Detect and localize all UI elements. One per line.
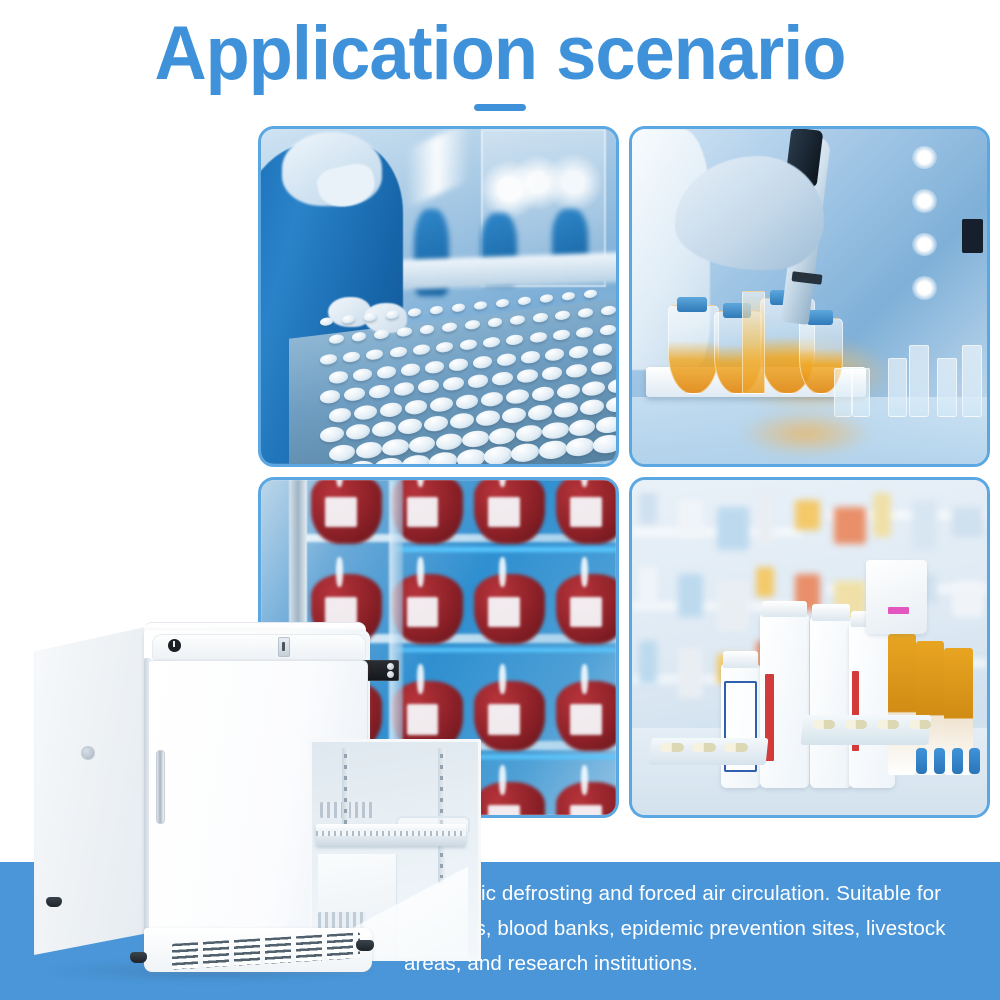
- fridge-light-strip: [396, 648, 616, 653]
- blood-bag-label: [488, 805, 520, 815]
- tablet: [562, 291, 575, 300]
- tablet: [557, 382, 580, 398]
- tablet: [430, 396, 453, 412]
- tablet: [443, 376, 464, 391]
- tablet: [517, 368, 538, 383]
- prescription-vial: [888, 634, 916, 775]
- fridge-light-strip: [396, 547, 616, 552]
- tablet: [429, 451, 457, 464]
- bottle-cap: [762, 601, 807, 618]
- flask-cap: [807, 310, 833, 325]
- scenario-tile-pharmaceutical-production[interactable]: Pharmaceutical production line with work…: [258, 126, 619, 467]
- tablet: [600, 323, 616, 335]
- blue-capsule: [916, 748, 927, 774]
- tablet: [364, 311, 377, 320]
- tablet: [436, 340, 453, 352]
- tablet: [462, 429, 488, 448]
- tablet: [413, 343, 430, 355]
- tablet: [554, 401, 578, 419]
- tablet: [465, 319, 480, 330]
- page-header: Application scenario: [0, 14, 1000, 111]
- tablet: [566, 436, 594, 456]
- amber-reflection: [739, 410, 874, 457]
- lab-lamp: [912, 233, 937, 256]
- graduated-cylinder: [742, 291, 765, 394]
- tablet: [394, 381, 415, 396]
- tablet: [352, 331, 367, 342]
- tablet: [430, 305, 443, 314]
- tablet: [442, 321, 457, 332]
- lab-lamp: [912, 276, 937, 299]
- tablet: [382, 437, 408, 456]
- tablet: [506, 388, 529, 404]
- tablet: [608, 377, 616, 393]
- scenario-tile-laboratory-pipetting[interactable]: Laboratory technician pipetting amber re…: [629, 126, 990, 467]
- capsule: [909, 720, 931, 729]
- tablet: [496, 298, 509, 307]
- tablet: [436, 432, 462, 451]
- tablet: [591, 361, 612, 376]
- title-underline-accent: [474, 104, 526, 111]
- tablet: [540, 293, 553, 302]
- tablet: [402, 453, 430, 464]
- tablet: [593, 433, 616, 453]
- description-text: Automatic defrosting and forced air circ…: [404, 876, 984, 981]
- key-lock-icon[interactable]: [278, 637, 290, 657]
- tablet-cluster: [332, 280, 616, 464]
- tablet: [532, 385, 555, 401]
- tablet: [390, 345, 407, 357]
- shelf-product: [678, 648, 703, 698]
- tablet: [356, 440, 382, 459]
- tablet: [346, 423, 370, 441]
- sample-vial: [937, 358, 957, 417]
- tablet: [601, 305, 616, 316]
- tablet: [528, 404, 552, 422]
- shelf-product: [873, 493, 891, 537]
- flask-cap: [677, 297, 707, 312]
- tablet: [374, 456, 402, 464]
- blue-capsule: [969, 748, 980, 774]
- blood-bag-label: [570, 805, 602, 815]
- blue-capsule: [952, 748, 963, 774]
- shelf-product: [952, 581, 984, 618]
- product-image-medical-refrigerator: 7.5: [26, 612, 396, 984]
- tablet: [474, 300, 487, 309]
- tablet: [347, 459, 375, 464]
- tablet: [566, 363, 587, 378]
- tablet: [420, 324, 435, 335]
- display-button-down[interactable]: [387, 671, 394, 678]
- tablet: [450, 412, 474, 430]
- display-button-up[interactable]: [387, 663, 394, 670]
- tablet: [542, 420, 568, 439]
- tablet: [476, 409, 500, 427]
- tablet: [489, 426, 515, 445]
- tablet: [380, 401, 403, 417]
- tablet: [369, 384, 390, 399]
- tablet: [344, 386, 365, 401]
- tablet: [452, 302, 465, 311]
- blood-bag-tube: [499, 765, 506, 795]
- tablet: [596, 415, 616, 434]
- side-panel-plug: [81, 746, 95, 760]
- blood-bag-tube: [581, 557, 588, 587]
- shelf-product: [639, 641, 657, 685]
- tablet: [530, 331, 547, 343]
- tablet: [457, 448, 485, 464]
- medicine-bottle: [810, 617, 853, 788]
- tablet: [518, 295, 531, 304]
- tablet: [533, 312, 548, 323]
- tablet: [397, 326, 412, 337]
- tablet: [502, 406, 526, 424]
- tablet: [542, 366, 563, 381]
- tablet: [488, 317, 503, 328]
- blood-bag-label: [325, 497, 357, 527]
- tablet: [468, 374, 489, 389]
- tablet: [497, 352, 516, 366]
- lab-lamp: [912, 189, 937, 212]
- tablet: [456, 393, 479, 409]
- tablet: [580, 398, 604, 416]
- cabinet-foot: [130, 952, 147, 963]
- shelf-product: [639, 567, 657, 604]
- cabinet-foot: [356, 940, 374, 951]
- tablet: [483, 335, 500, 347]
- tablet: [510, 314, 525, 325]
- blue-capsule: [934, 748, 945, 774]
- tablet: [516, 423, 542, 442]
- blood-bag-tube: [499, 664, 506, 694]
- tablet: [606, 396, 616, 414]
- tablet: [521, 350, 540, 364]
- bottle-cap: [723, 651, 758, 668]
- sample-vial: [888, 358, 908, 417]
- capsule: [724, 743, 748, 752]
- tablet: [405, 398, 428, 414]
- blood-bag-label: [570, 497, 602, 527]
- shelf-product: [717, 581, 749, 631]
- lab-lamp: [912, 146, 937, 169]
- pharmacy-medicines-photo: [632, 480, 987, 815]
- capsule: [692, 743, 716, 752]
- tablet: [374, 329, 389, 340]
- medicine-carton: [866, 560, 926, 634]
- wire-shelf: [316, 824, 466, 846]
- tablet: [398, 417, 422, 435]
- tablet: [329, 443, 355, 462]
- tablet: [584, 288, 597, 297]
- blood-bag-tube: [499, 557, 506, 587]
- tablet: [506, 333, 523, 345]
- tablet: [424, 415, 448, 433]
- capsule: [660, 743, 684, 752]
- tablet: [460, 338, 477, 350]
- sample-vial: [909, 345, 929, 417]
- control-panel[interactable]: 7.5: [152, 634, 366, 660]
- tablet: [481, 390, 504, 406]
- wall-fixture: [962, 219, 983, 253]
- tablet: [342, 314, 355, 323]
- tablet: [576, 326, 593, 338]
- tablet: [320, 389, 341, 404]
- glass-door[interactable]: [148, 660, 368, 940]
- shelf-product: [834, 507, 866, 544]
- capsule: [877, 720, 899, 729]
- tablet: [408, 307, 421, 316]
- blood-bag-tube: [417, 557, 424, 587]
- tablet: [366, 348, 383, 360]
- sample-vial: [962, 345, 982, 417]
- capsule: [845, 720, 867, 729]
- tablet: [418, 379, 439, 394]
- shelf-product: [639, 493, 657, 523]
- tablet: [386, 309, 399, 318]
- shelf-product: [678, 500, 703, 537]
- power-icon[interactable]: [168, 639, 181, 652]
- laboratory-pipetting-photo: [632, 129, 987, 464]
- tablet: [401, 362, 420, 376]
- shelf-product: [756, 567, 774, 597]
- blood-bag-label: [488, 704, 520, 734]
- blood-bag-tube: [336, 557, 343, 587]
- door-handle[interactable]: [156, 750, 165, 824]
- blood-bag-tube: [581, 664, 588, 694]
- tablet: [377, 365, 396, 379]
- tablet: [343, 350, 360, 362]
- cabinet-foot: [46, 897, 62, 907]
- tablet: [511, 442, 539, 462]
- tablet: [449, 357, 468, 371]
- tablet: [409, 434, 435, 453]
- tablet: [578, 307, 593, 318]
- tablet: [354, 404, 377, 420]
- blood-bag-tube: [581, 765, 588, 795]
- scenario-tile-pharmacy-medicines[interactable]: Pharmacy counter with medicine bottles, …: [629, 477, 990, 818]
- shelf-product: [912, 500, 937, 550]
- tablet: [569, 418, 595, 437]
- shelf-product: [756, 493, 774, 543]
- tablet: [473, 355, 492, 369]
- tablet: [329, 370, 348, 384]
- blood-bag-label: [407, 497, 439, 527]
- shelf-product: [795, 500, 820, 530]
- tablet: [555, 310, 570, 321]
- tablet: [582, 380, 605, 396]
- blood-bag-label: [407, 597, 439, 627]
- shelf-product: [678, 574, 703, 618]
- blood-bag-tube: [417, 664, 424, 694]
- page-title: Application scenario: [25, 14, 975, 94]
- tablet: [539, 439, 567, 459]
- pharmaceutical-production-photo: [261, 129, 616, 464]
- blood-bag-label: [570, 704, 602, 734]
- application-scenario-page: Application scenario Pharmaceutical p: [0, 0, 1000, 1000]
- carton-accent: [888, 607, 909, 614]
- tablet: [569, 345, 588, 359]
- tablet: [353, 367, 372, 381]
- tablet: [492, 371, 513, 386]
- shelf-product: [952, 507, 984, 537]
- bottle-cap: [812, 604, 850, 621]
- shelf-product: [717, 507, 749, 551]
- erlenmeyer-flask: [668, 305, 720, 394]
- capsule: [813, 720, 835, 729]
- blood-bag-label: [488, 497, 520, 527]
- tablet: [329, 406, 352, 422]
- tablet: [329, 333, 344, 344]
- blood-bag-label: [407, 704, 439, 734]
- tablet: [372, 420, 396, 438]
- blood-bag-label: [570, 597, 602, 627]
- tablet: [484, 445, 512, 464]
- blood-bag-label: [488, 597, 520, 627]
- tablet: [545, 347, 564, 361]
- tablet: [425, 360, 444, 374]
- tablet: [593, 342, 612, 356]
- tablet: [553, 328, 570, 340]
